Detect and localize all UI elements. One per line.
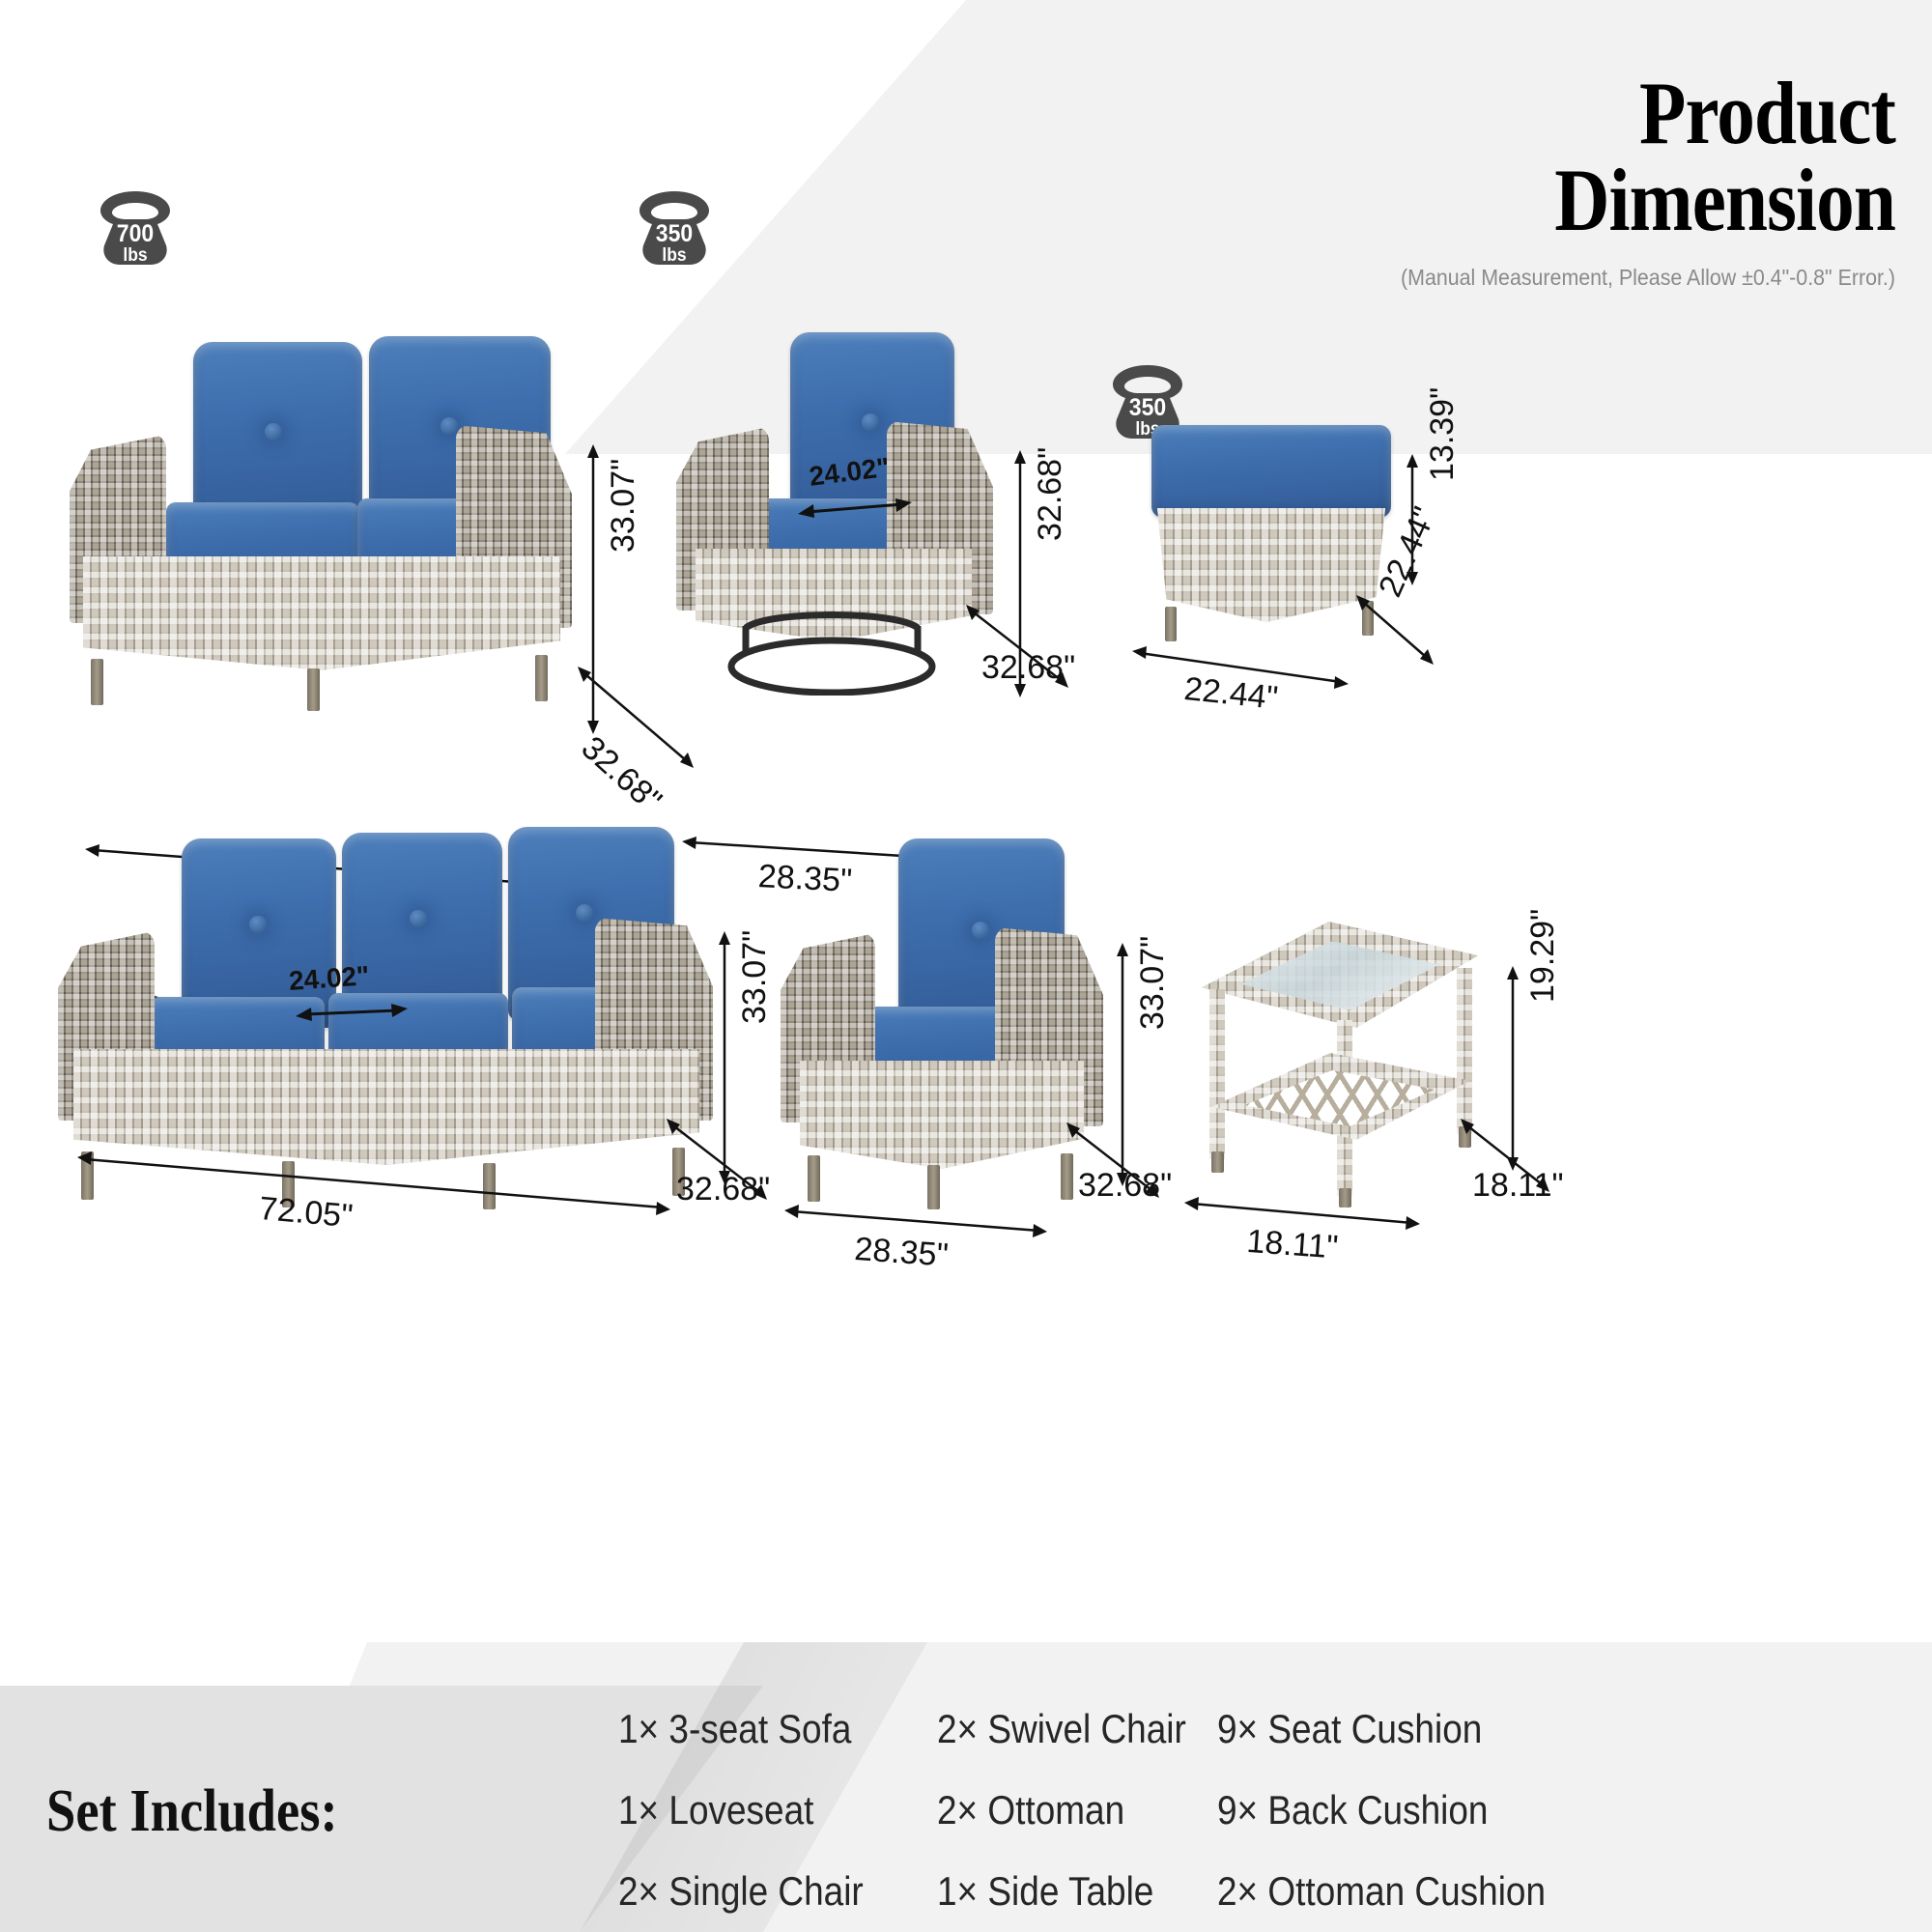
single-chair-base: [800, 1061, 1084, 1169]
set-includes-title: Set Includes:: [46, 1777, 338, 1846]
weight-unit: lbs: [95, 246, 177, 265]
ottoman-cushion: [1151, 425, 1391, 518]
product-image-loveseat: [68, 319, 609, 724]
ottoman-base: [1157, 508, 1385, 622]
dim-label-sofa-seat-depth: 24.02": [288, 960, 370, 997]
loveseat-base: [83, 556, 560, 670]
set-includes-item: 9× Back Cushion: [1217, 1787, 1546, 1833]
set-includes-item: 1× 3-seat Sofa: [618, 1706, 898, 1752]
set-includes-item: 2× Ottoman Cushion: [1217, 1868, 1546, 1915]
page-title-line2: Dimension: [1097, 156, 1895, 243]
dim-label-loveseat-height: 33.07": [605, 459, 642, 553]
set-includes-item: 1× Loveseat: [618, 1787, 898, 1833]
set-includes-item: 2× Swivel Chair: [937, 1706, 1183, 1752]
tuft-button: [410, 910, 427, 927]
weight-unit: lbs: [634, 246, 716, 265]
loveseat-leg: [307, 668, 320, 711]
dim-arrow-single-chair-width: [784, 1204, 1047, 1238]
tuft-button: [249, 916, 267, 933]
dim-label-side-table-depth: 18.11": [1472, 1167, 1564, 1205]
tuft-button: [576, 904, 593, 922]
dim-arrow-side-table-width: [1184, 1196, 1420, 1231]
dim-label-single-chair-width: 28.35": [853, 1231, 950, 1275]
set-includes-item: 2× Ottoman: [937, 1787, 1183, 1833]
measurement-disclaimer: (Manual Measurement, Please Allow ±0.4"-…: [1033, 265, 1895, 291]
weight-badge-swivel-chair: 350 lbs: [630, 185, 719, 270]
dim-label-swivel-depth: 32.68": [981, 649, 1075, 687]
sofa-base: [73, 1049, 699, 1165]
swivel-mechanism-icon: [711, 607, 952, 696]
set-includes-item: 1× Side Table: [937, 1868, 1183, 1915]
page-title-line1: Product: [1097, 70, 1895, 156]
loveseat-leg: [535, 655, 548, 701]
tuft-button: [862, 413, 879, 431]
dim-label-side-table-height: 19.29": [1524, 909, 1562, 1003]
single-chair-leg: [808, 1155, 820, 1202]
set-includes-list: 1× 3-seat Sofa 2× Swivel Chair 9× Seat C…: [618, 1689, 1590, 1932]
dim-label-side-table-width: 18.11": [1245, 1223, 1339, 1267]
dim-label-sofa-width: 72.05": [258, 1190, 355, 1236]
dim-label-sofa-height: 33.07": [736, 930, 774, 1024]
tuft-button: [972, 922, 989, 939]
page-header: Product Dimension (Manual Measurement, P…: [968, 70, 1895, 291]
product-image-side-table: [1190, 908, 1490, 1217]
set-includes-item: 9× Seat Cushion: [1217, 1706, 1546, 1752]
side-table-leg: [1457, 968, 1472, 1134]
dim-label-single-chair-depth: 32.68": [1078, 1167, 1172, 1205]
weight-value: 350: [634, 222, 716, 246]
dim-arrow-swivel-seat-depth: [798, 497, 912, 522]
side-table-foot: [1211, 1151, 1224, 1173]
tuft-button: [265, 423, 282, 440]
dim-arrow-sofa-seat-depth: [296, 1001, 408, 1026]
dim-label-sofa-depth: 32.68": [676, 1171, 770, 1208]
dim-arrow-ottoman-depth: [1356, 595, 1434, 665]
product-image-ottoman: [1130, 415, 1391, 657]
dim-label-swivel-height: 32.68": [1032, 447, 1069, 541]
ottoman-leg: [1165, 607, 1177, 641]
weight-badge-loveseat: 700 lbs: [91, 185, 180, 270]
side-table-leg: [1209, 989, 1225, 1159]
dim-label-single-chair-height: 33.07": [1134, 936, 1172, 1030]
weight-value: 700: [95, 222, 177, 246]
set-includes-item: 2× Single Chair: [618, 1868, 898, 1915]
loveseat-leg: [91, 659, 103, 705]
tuft-button: [440, 417, 458, 435]
dim-label-ottoman-height: 13.39": [1424, 387, 1462, 481]
product-image-single-chair: [779, 821, 1107, 1227]
dim-arrow-sofa-width: [77, 1151, 670, 1215]
infographic-canvas: Product Dimension (Manual Measurement, P…: [0, 0, 1932, 1932]
